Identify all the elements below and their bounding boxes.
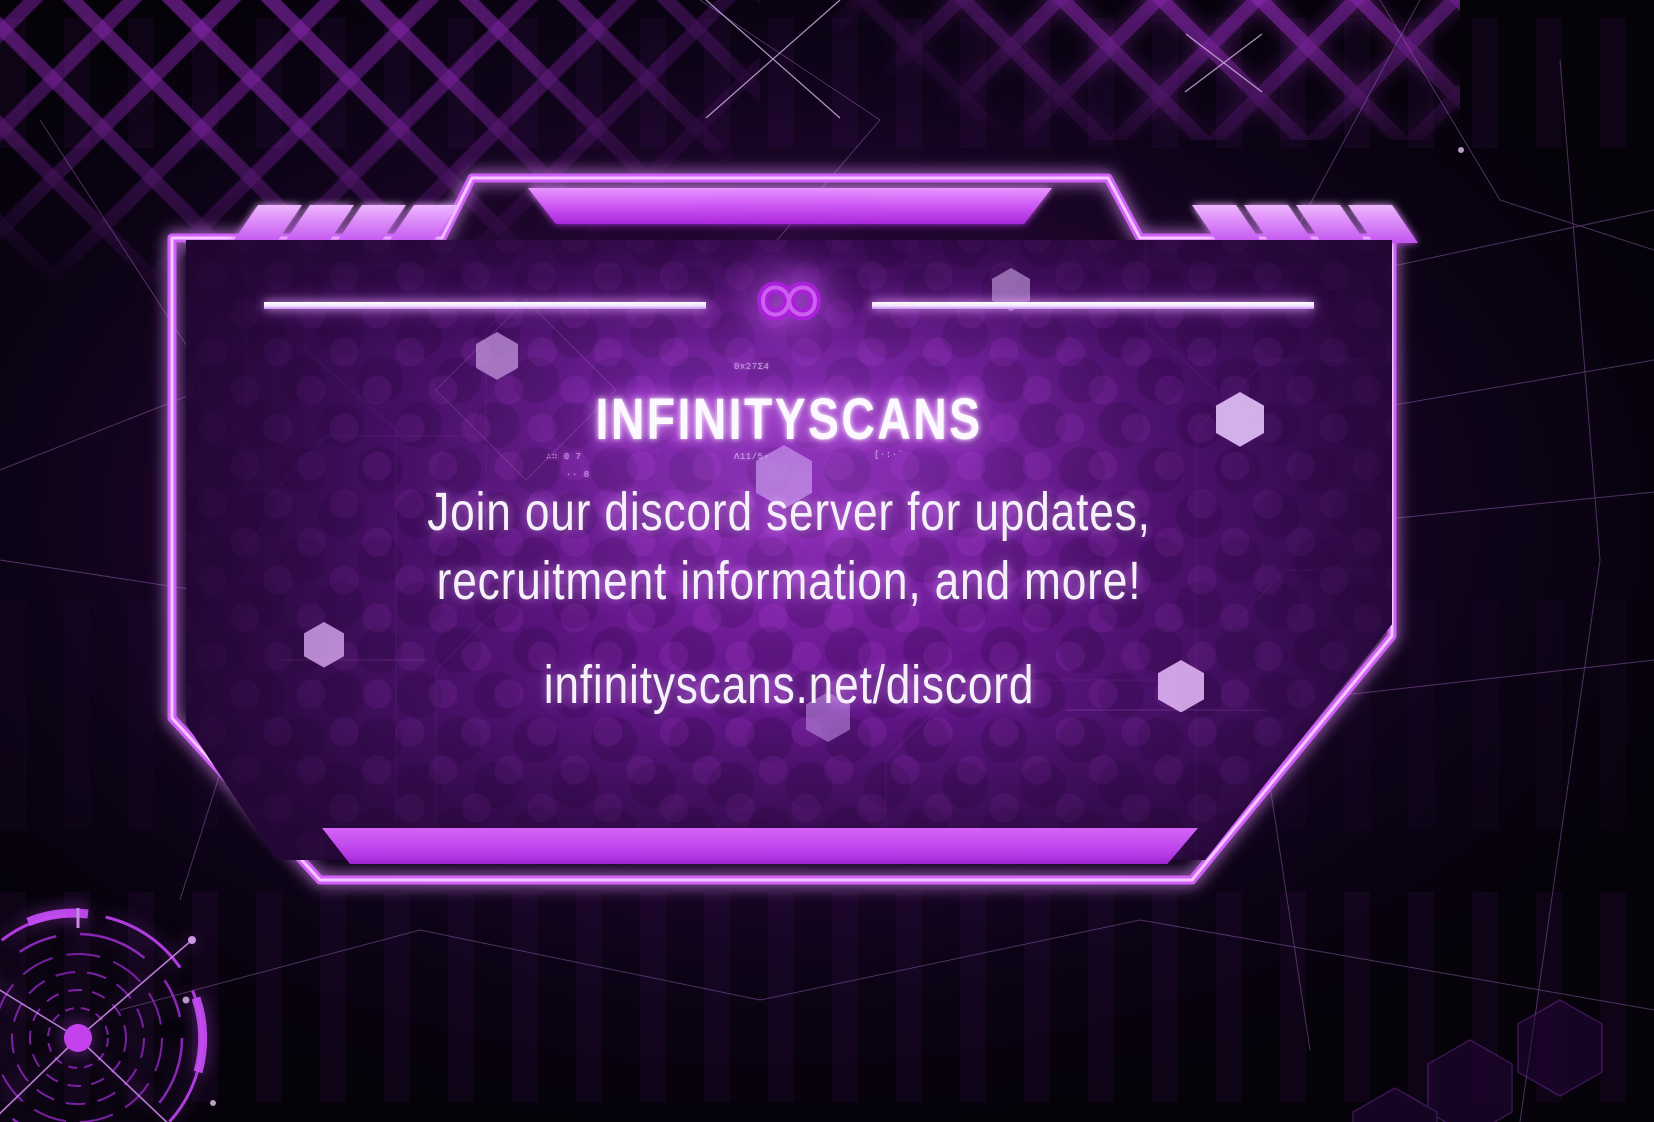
panel-content: INFINITYSCANS Join our discord server fo… xyxy=(186,240,1392,860)
radar-hud-icon xyxy=(0,902,214,1122)
discord-url[interactable]: infinityscans.net/discord xyxy=(295,654,1284,716)
tagline-line-1: Join our discord server for updates, xyxy=(295,478,1284,547)
divider-right xyxy=(872,302,1314,309)
infinity-icon xyxy=(726,258,852,344)
tagline-line-2: recruitment information, and more! xyxy=(295,547,1284,616)
page-title: INFINITYSCANS xyxy=(307,386,1272,453)
hud-glyph: ∴∷ 0 7 xyxy=(546,452,581,462)
banner-canvas: INFINITYSCANS Join our discord server fo… xyxy=(0,0,1654,1122)
tagline: Join our discord server for updates, rec… xyxy=(295,478,1284,616)
hud-glyph: Λ11/5▫ xyxy=(734,452,769,462)
divider-left xyxy=(264,302,706,309)
footer-bar xyxy=(322,828,1198,864)
hud-glyph: 0x27Σ4 xyxy=(734,362,769,372)
